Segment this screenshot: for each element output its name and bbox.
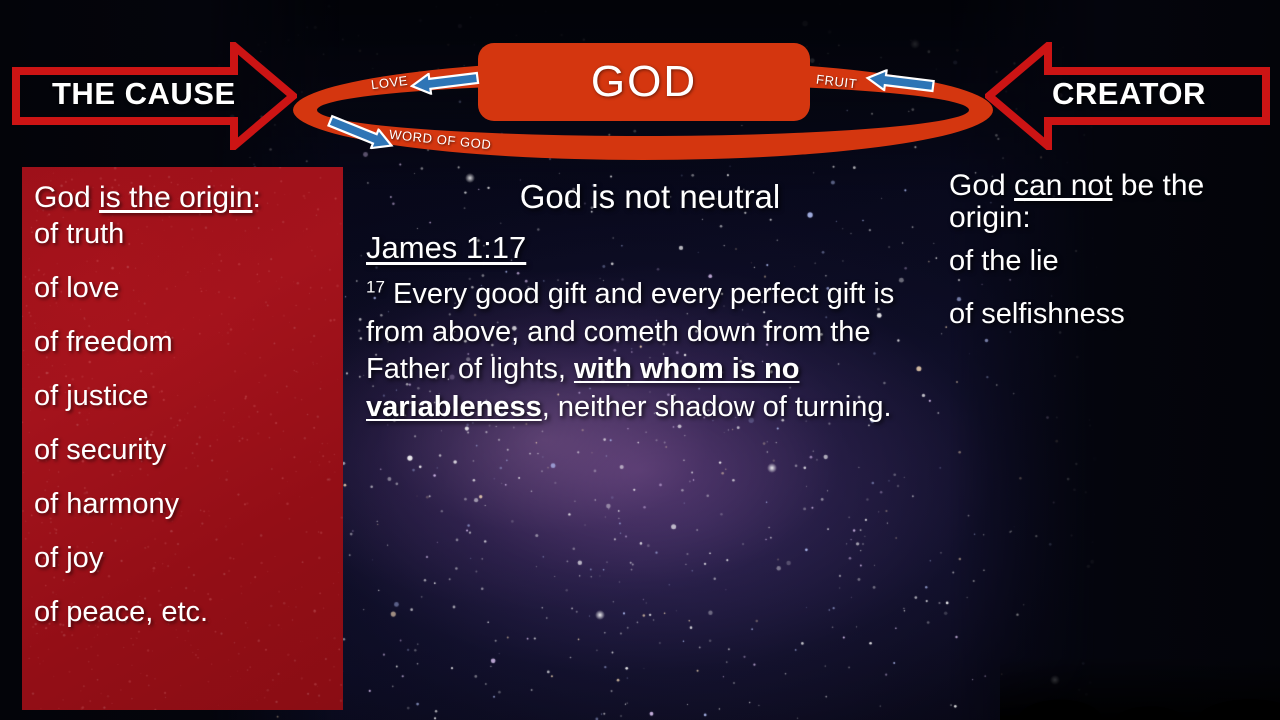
cannot-heading-underlined: can not (1014, 169, 1112, 202)
verse-number: 17 (366, 277, 385, 296)
origin-heading-underlined: is the origin (99, 181, 252, 214)
origin-list-panel: God is the origin: of truth of love of f… (22, 167, 343, 710)
scripture-verse: 17 Every good gift and every perfect gif… (366, 276, 934, 427)
origin-list-item: of harmony (34, 490, 343, 519)
slide-canvas: THE CAUSE CREATOR GOD LOVE FRUIT (0, 0, 1280, 720)
creator-label: CREATOR (1052, 76, 1206, 112)
origin-list-item: of security (34, 436, 343, 465)
origin-list-item: of truth (34, 220, 343, 249)
origin-heading-post: : (252, 181, 260, 214)
god-box-label: GOD (591, 57, 697, 107)
cannot-heading-pre: God (949, 169, 1014, 202)
god-cycle-diagram: GOD LOVE FRUIT WORD OF GOD (293, 60, 993, 162)
cannot-origin-heading: God can not be the origin: (949, 170, 1269, 235)
treeline-silhouette (1000, 656, 1280, 720)
origin-list-item: of love (34, 274, 343, 303)
scripture-reference: James 1:17 (366, 230, 934, 266)
origin-panel-heading: God is the origin: (34, 181, 343, 214)
origin-list-item: of freedom (34, 328, 343, 357)
cannot-be-origin-column: God can not be the origin: of the lie of… (949, 170, 1269, 353)
origin-list-item: of justice (34, 382, 343, 411)
cannot-origin-list-item: of the lie (949, 247, 1269, 276)
origin-list-item: of peace, etc. (34, 598, 343, 627)
origin-heading-pre: God (34, 181, 99, 214)
origin-list-item: of joy (34, 544, 343, 573)
god-box: GOD (478, 43, 810, 121)
center-title: God is not neutral (366, 178, 934, 216)
cannot-origin-list-item: of selfishness (949, 300, 1269, 329)
scripture-column: God is not neutral James 1:17 17 Every g… (366, 178, 934, 427)
verse-part-2: , neither shadow of turning. (542, 391, 892, 423)
cause-label: THE CAUSE (52, 76, 236, 112)
